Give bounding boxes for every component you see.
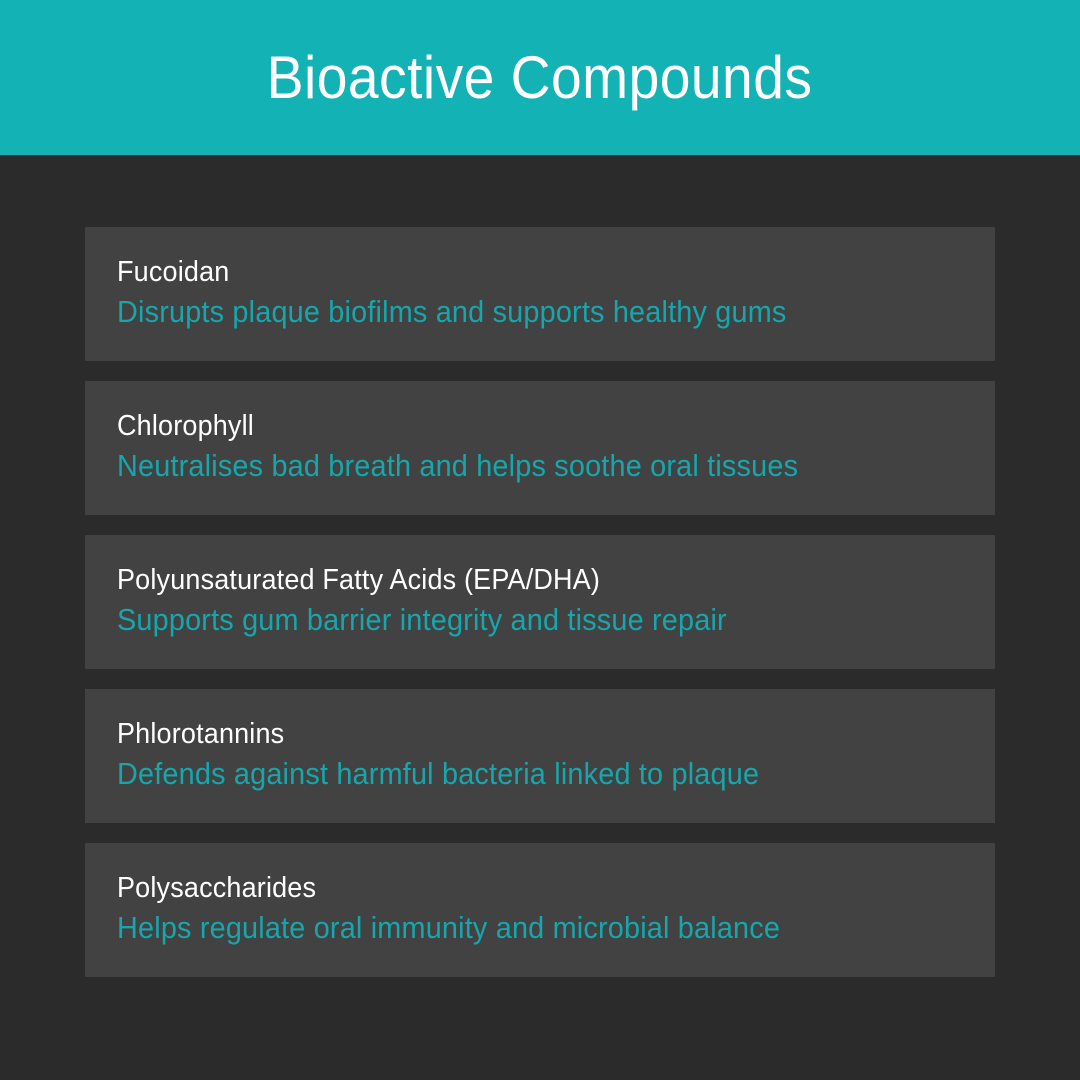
- compound-name: Phlorotannins: [117, 715, 904, 753]
- compound-card: Polysaccharides Helps regulate oral immu…: [85, 843, 995, 977]
- compound-card: Polyunsaturated Fatty Acids (EPA/DHA) Su…: [85, 535, 995, 669]
- compound-card: Phlorotannins Defends against harmful ba…: [85, 689, 995, 823]
- compound-name: Chlorophyll: [117, 407, 904, 445]
- compound-description: Supports gum barrier integrity and tissu…: [117, 599, 904, 641]
- poster-header: Bioactive Compounds: [0, 0, 1080, 155]
- page-title: Bioactive Compounds: [267, 47, 813, 109]
- compound-card: Chlorophyll Neutralises bad breath and h…: [85, 381, 995, 515]
- compound-name: Polyunsaturated Fatty Acids (EPA/DHA): [117, 561, 904, 599]
- compound-name: Polysaccharides: [117, 869, 904, 907]
- compound-description: Defends against harmful bacteria linked …: [117, 753, 904, 795]
- compound-description: Helps regulate oral immunity and microbi…: [117, 907, 904, 949]
- compound-card-list: Fucoidan Disrupts plaque biofilms and su…: [85, 227, 995, 977]
- compound-name: Fucoidan: [117, 253, 904, 291]
- compound-description: Disrupts plaque biofilms and supports he…: [117, 291, 904, 333]
- bioactive-compounds-poster: Bioactive Compounds Fucoidan Disrupts pl…: [0, 0, 1080, 1080]
- compound-card: Fucoidan Disrupts plaque biofilms and su…: [85, 227, 995, 361]
- compound-description: Neutralises bad breath and helps soothe …: [117, 445, 904, 487]
